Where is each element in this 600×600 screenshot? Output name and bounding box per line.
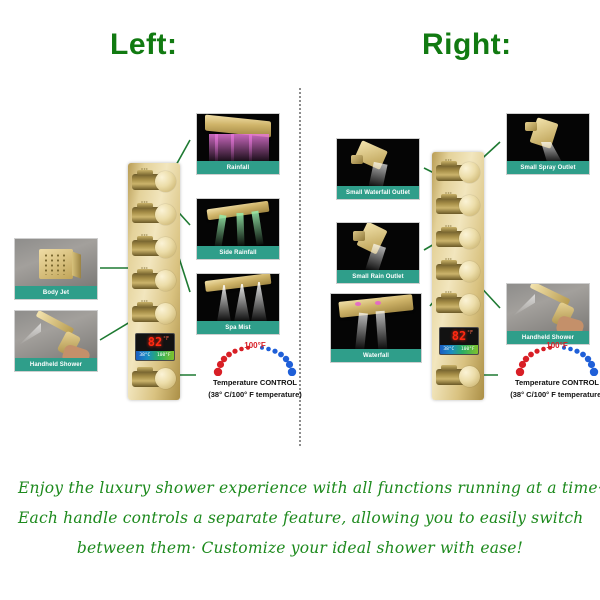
temperature-display: 82 °F 38°C 100°F [135, 333, 175, 361]
left-section-title: Left: [110, 28, 177, 62]
temperature-control-left: 100°F [190, 342, 320, 400]
handle-knob[interactable] [155, 303, 176, 324]
callout-side-rainfall: Side Rainfall [196, 198, 280, 260]
photo-scene-handheld-right [507, 284, 589, 331]
temperature-gauge: 100°F [190, 342, 320, 376]
spa-mist-head [205, 274, 272, 292]
handle-knob[interactable] [155, 270, 176, 291]
display-unit: °F [467, 330, 473, 336]
panel-handle[interactable]: OFF [132, 171, 176, 193]
handle-knob[interactable] [155, 204, 176, 225]
right-shower-panel[interactable]: OFF OFF OFF OFF OFF 82 °F [432, 152, 484, 400]
display-sub-celsius: 38°C [443, 347, 454, 352]
gauge-value-label: 100°F [492, 341, 600, 350]
panel-handle[interactable]: OFF [436, 294, 480, 316]
temperature-subtitle: (38° C/100° F temperature) [190, 390, 320, 400]
temperature-title: Temperature CONTROL [190, 378, 320, 388]
panel-handle[interactable]: OFF [132, 270, 176, 292]
callout-small-rain-outlet: Small Rain Outlet [336, 222, 420, 284]
panel-handle[interactable]: OFF [436, 261, 480, 283]
callout-caption: Waterfall [331, 349, 421, 362]
display-unit: °F [163, 336, 169, 342]
callout-caption: Small Rain Outlet [337, 270, 419, 283]
callout-photo [507, 114, 589, 161]
gauge-value-label: 100°F [190, 341, 320, 350]
blurb-line-3: between them· Customize your ideal showe… [18, 533, 582, 563]
photo-scene-small-waterfall [337, 139, 419, 186]
marketing-blurb: Enjoy the luxury shower experience with … [18, 473, 582, 563]
temperature-gauge: 100°F [492, 342, 600, 376]
handle-knob[interactable] [459, 261, 480, 282]
display-subreadings: 38°C 100°F [440, 345, 478, 354]
photo-scene-small-rain [337, 223, 419, 270]
right-section-title: Right: [422, 28, 512, 62]
panel-handle[interactable]: OFF [436, 228, 480, 250]
panel-handle[interactable] [436, 366, 480, 388]
handle-knob[interactable] [459, 294, 480, 315]
callout-caption: Small Waterfall Outlet [337, 186, 419, 199]
callout-caption: Small Spray Outlet [507, 161, 589, 174]
display-sub-celsius: 38°C [139, 353, 150, 358]
panel-handle[interactable]: OFF [132, 204, 176, 226]
callout-waterfall: Waterfall [330, 293, 422, 363]
callout-photo [197, 274, 279, 321]
photo-scene-waterfall [331, 294, 421, 349]
callout-handheld-shower-left: Handheld Shower [14, 310, 98, 372]
panel-handle[interactable]: OFF [132, 303, 176, 325]
callout-rainfall: Rainfall [196, 113, 280, 175]
panel-handle[interactable] [132, 368, 176, 390]
callout-handheld-shower-right: Handheld Shower [506, 283, 590, 345]
panel-handle[interactable]: OFF [436, 195, 480, 217]
callout-spa-mist: Spa Mist [196, 273, 280, 335]
infographic-canvas: Left: Right: [0, 0, 600, 600]
handle-knob[interactable] [459, 366, 480, 387]
temperature-control-right: 100°F [492, 342, 600, 400]
display-subreadings: 38°C 100°F [136, 351, 174, 360]
photo-scene-spa-mist [197, 274, 279, 321]
display-sub-fahrenheit: 100°F [461, 347, 475, 352]
handle-knob[interactable] [155, 171, 176, 192]
callout-photo [15, 311, 97, 358]
callout-small-waterfall-outlet: Small Waterfall Outlet [336, 138, 420, 200]
callout-caption: Side Rainfall [197, 246, 279, 259]
callout-photo [507, 284, 589, 331]
left-shower-panel[interactable]: OFF OFF OFF OFF OFF 82 °F [128, 163, 180, 400]
photo-scene-body-jet [15, 239, 97, 286]
blurb-line-2: Each handle controls a separate feature,… [18, 503, 582, 533]
callout-caption: Body Jet [15, 286, 97, 299]
callout-caption: Handheld Shower [15, 358, 97, 371]
panel-handle[interactable]: OFF [436, 162, 480, 184]
temperature-display: 82 °F 38°C 100°F [439, 327, 479, 355]
callout-photo [337, 139, 419, 186]
handle-knob[interactable] [459, 195, 480, 216]
photo-scene-side-rainfall [197, 199, 279, 246]
temperature-title: Temperature CONTROL [492, 378, 600, 388]
handle-knob[interactable] [155, 368, 176, 389]
callout-photo [331, 294, 421, 349]
callout-caption: Rainfall [197, 161, 279, 174]
handle-knob[interactable] [155, 237, 176, 258]
callout-photo [15, 239, 97, 286]
photo-scene-handheld-left [15, 311, 97, 358]
panel-handle[interactable]: OFF [132, 237, 176, 259]
blurb-line-1: Enjoy the luxury shower experience with … [18, 473, 582, 503]
photo-scene-small-spray [507, 114, 589, 161]
display-sub-fahrenheit: 100°F [157, 353, 171, 358]
temperature-subtitle: (38° C/100° F temperature) [492, 390, 600, 400]
handle-knob[interactable] [459, 162, 480, 183]
photo-scene-rainfall [197, 114, 279, 161]
callout-body-jet: Body Jet [14, 238, 98, 300]
callout-photo [337, 223, 419, 270]
callout-caption: Spa Mist [197, 321, 279, 334]
handle-knob[interactable] [459, 228, 480, 249]
callout-photo [197, 114, 279, 161]
callout-small-spray-outlet: Small Spray Outlet [506, 113, 590, 175]
callout-photo [197, 199, 279, 246]
